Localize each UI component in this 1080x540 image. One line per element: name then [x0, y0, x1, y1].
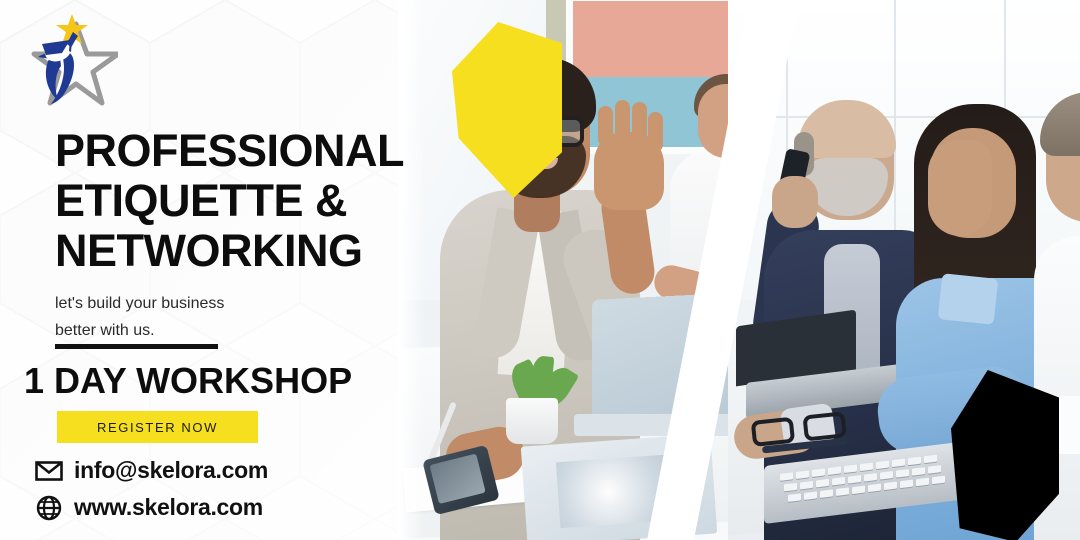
tagline: let's build your business better with us… [55, 290, 355, 344]
text-column: PROFESSIONAL ETIQUETTE & NETWORKING let'… [0, 0, 470, 540]
divider-rule [55, 344, 218, 349]
person-a-hand-on-phone [772, 176, 818, 228]
event-banner: PROFESSIONAL ETIQUETTE & NETWORKING let'… [0, 0, 1080, 540]
globe-icon [34, 495, 64, 521]
email-address: info@skelora.com [74, 457, 268, 484]
workshop-duration-label: 1 DAY WORKSHOP [24, 360, 444, 402]
tagline-line-2: better with us. [55, 317, 355, 344]
person-b-face [928, 140, 992, 236]
headline-line-3: NETWORKING [55, 226, 455, 276]
person-b-collar [938, 273, 999, 325]
desk-glasses-left-lens [751, 417, 795, 447]
page-title: PROFESSIONAL ETIQUETTE & NETWORKING [55, 126, 455, 276]
contact-website-row[interactable]: www.skelora.com [34, 489, 434, 526]
register-now-button[interactable]: REGISTER NOW [57, 411, 258, 443]
envelope-icon [34, 458, 64, 484]
desk-glasses-right-lens [802, 411, 846, 441]
skelora-logo [14, 8, 118, 112]
tagline-line-1: let's build your business [55, 290, 355, 317]
window-transom [728, 116, 1080, 118]
headline-line-2: ETIQUETTE & [55, 176, 455, 226]
contact-block: info@skelora.com www.skelora.com [34, 452, 434, 526]
contact-email-row[interactable]: info@skelora.com [34, 452, 434, 489]
man-raised-hand [594, 132, 664, 210]
headline-line-1: PROFESSIONAL [55, 126, 455, 176]
plant-pot [506, 398, 558, 444]
website-url: www.skelora.com [74, 494, 263, 521]
